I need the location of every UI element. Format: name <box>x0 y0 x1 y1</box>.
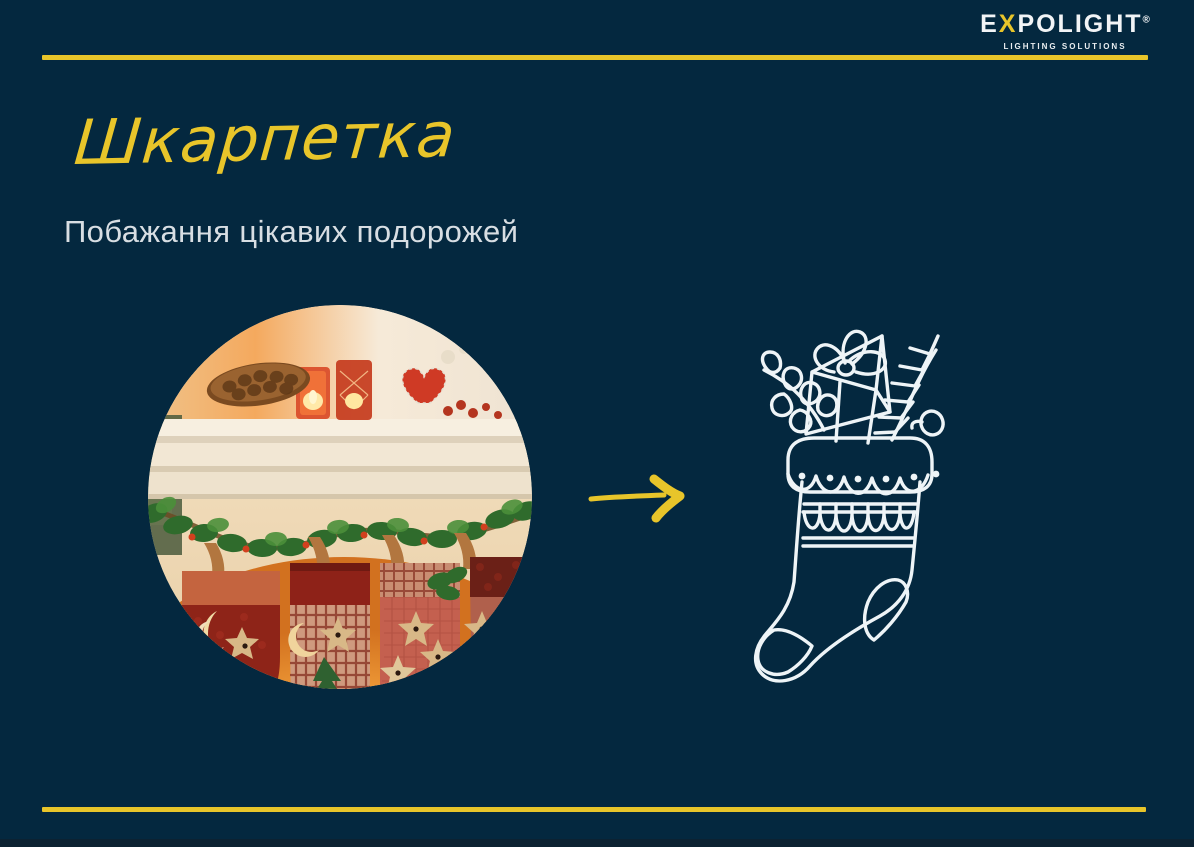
slide-canvas: EXPOLIGHT® LIGHTING SOLUTIONS Шкарпетка … <box>0 0 1194 847</box>
brand-suffix: POLIGHT <box>1017 10 1142 38</box>
page-title: Шкарпетка <box>72 104 458 174</box>
bottom-edge-strip <box>0 839 1194 847</box>
brand-tagline: LIGHTING SOLUTIONS <box>980 42 1150 51</box>
brand-wordmark: EXPOLIGHT® <box>980 12 1150 37</box>
christmas-stockings-photo <box>148 305 532 689</box>
page-subtitle: Побажання цікавих подорожей <box>64 214 518 250</box>
registered-trademark-icon: ® <box>1143 15 1150 26</box>
brand-x-letter: X <box>999 10 1018 38</box>
bottom-divider-rule <box>42 807 1146 812</box>
brand-prefix: E <box>980 10 999 38</box>
right-arrow-icon <box>588 470 692 526</box>
stocking-line-icon <box>740 290 960 690</box>
brand-logo: EXPOLIGHT® LIGHTING SOLUTIONS <box>980 12 1150 51</box>
top-divider-rule <box>42 55 1148 60</box>
